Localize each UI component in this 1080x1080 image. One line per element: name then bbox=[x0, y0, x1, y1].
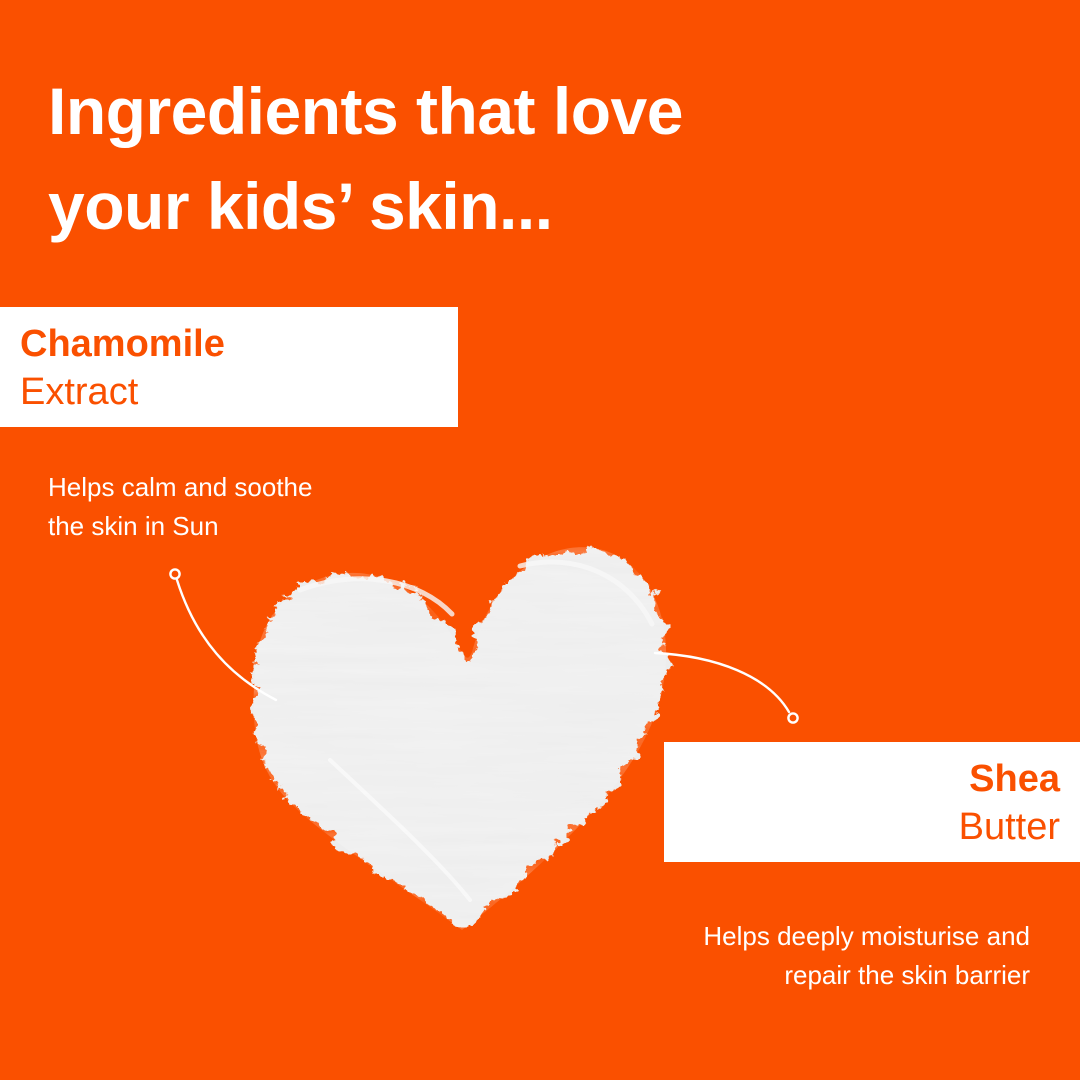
connector-line-shea-icon bbox=[655, 653, 798, 723]
headline-line-2: your kids’ skin... bbox=[48, 159, 868, 254]
ingredient-card-shea: Shea Butter bbox=[664, 742, 1080, 862]
headline-line-1: Ingredients that love bbox=[48, 64, 868, 159]
ingredient-name-shea: Shea bbox=[969, 756, 1060, 802]
ingredient-description-shea: Helps deeply moisturise and repair the s… bbox=[510, 917, 1030, 995]
ingredient-name-chamomile: Chamomile bbox=[20, 321, 225, 367]
description-line-2: repair the skin barrier bbox=[510, 956, 1030, 995]
description-line-1: Helps calm and soothe bbox=[48, 468, 468, 507]
ingredient-sub-shea: Butter bbox=[959, 802, 1060, 852]
description-line-1: Helps deeply moisturise and bbox=[510, 917, 1030, 956]
page-title: Ingredients that love your kids’ skin... bbox=[48, 64, 868, 254]
connector-line-chamomile-icon bbox=[170, 569, 276, 700]
ingredient-description-chamomile: Helps calm and soothe the skin in Sun bbox=[48, 468, 468, 546]
ingredient-card-chamomile: Chamomile Extract bbox=[0, 307, 458, 427]
painted-heart-icon bbox=[240, 530, 690, 950]
poster-canvas: Ingredients that love your kids’ skin...… bbox=[0, 0, 1080, 1080]
ingredient-sub-chamomile: Extract bbox=[20, 367, 138, 417]
description-line-2: the skin in Sun bbox=[48, 507, 468, 546]
